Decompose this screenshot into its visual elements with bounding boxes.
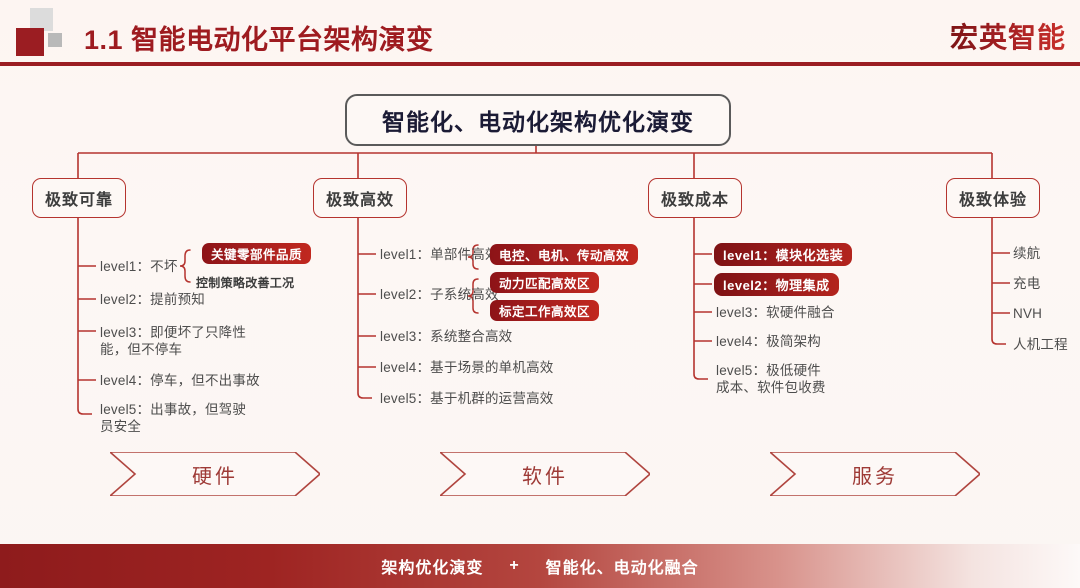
level-item: level3：软硬件融合 (716, 304, 835, 321)
level-item: NVH (1013, 305, 1042, 322)
slide-header: 1.1 智能电动化平台架构演变 宏英智能 (0, 0, 1080, 64)
company-logo: 宏英智能 (950, 16, 1066, 56)
level-item: level4：基于场景的单机高效 (380, 359, 553, 376)
stage-arrow-hardware[interactable]: 硬件 (110, 452, 320, 496)
badge-key-part-quality[interactable]: 关键零部件品质 (202, 243, 311, 264)
level-item: level2：子系统高效 (380, 286, 499, 303)
level-item: level5：出事故，但驾驶 员安全 (100, 401, 246, 435)
level-item: level1：不坏 (100, 258, 178, 275)
level-badge-physical-integration[interactable]: level2：物理集成 (714, 273, 839, 296)
stage-arrow-label: 软件 (440, 452, 650, 496)
category-box-experience[interactable]: 极致体验 (946, 178, 1040, 218)
level-item: 人机工程 (1013, 336, 1068, 353)
level-item: level4：停车，但不出事故 (100, 372, 260, 389)
stage-arrow-label: 硬件 (110, 452, 320, 496)
category-box-cost[interactable]: 极致成本 (648, 178, 742, 218)
footer-plus-sign: + (509, 557, 519, 575)
level-item: 续航 (1013, 245, 1040, 262)
badge-calibration-zone[interactable]: 标定工作高效区 (490, 300, 599, 321)
slide-footer: 架构优化演变 + 智能化、电动化融合 (0, 544, 1080, 588)
level-item: level1：单部件高效 (380, 246, 499, 263)
level-item: level3：系统整合高效 (380, 328, 512, 345)
decor-square-gray-small (48, 33, 62, 47)
category-box-reliability[interactable]: 极致可靠 (32, 178, 126, 218)
slide-root: 1.1 智能电动化平台架构演变 宏英智能 (0, 0, 1080, 588)
badge-drive-efficiency[interactable]: 电控、电机、传动高效 (490, 244, 638, 265)
level-badge-modular[interactable]: level1：模块化选装 (714, 243, 852, 266)
stage-arrow-service[interactable]: 服务 (770, 452, 980, 496)
footer-left-text: 架构优化演变 (381, 554, 483, 578)
page-title: 1.1 智能电动化平台架构演变 (84, 18, 434, 57)
level-item: level3：即便坏了只降性 能，但不停车 (100, 324, 246, 358)
category-box-efficiency[interactable]: 极致高效 (313, 178, 407, 218)
caption-control-strategy: 控制策略改善工况 (196, 274, 294, 291)
level-item: level4：极简架构 (716, 333, 821, 350)
decor-square-red (16, 28, 44, 56)
level-item: level2：提前预知 (100, 291, 205, 308)
level-item: level5：基于机群的运营高效 (380, 390, 553, 407)
root-title-box: 智能化、电动化架构优化演变 (345, 94, 731, 146)
header-divider (0, 62, 1080, 66)
level-item: level5：极低硬件 成本、软件包收费 (716, 362, 826, 396)
badge-power-match-zone[interactable]: 动力匹配高效区 (490, 272, 599, 293)
footer-right-text: 智能化、电动化融合 (546, 554, 699, 578)
stage-arrow-software[interactable]: 软件 (440, 452, 650, 496)
stage-arrow-label: 服务 (770, 452, 980, 496)
level-item: 充电 (1013, 275, 1040, 292)
